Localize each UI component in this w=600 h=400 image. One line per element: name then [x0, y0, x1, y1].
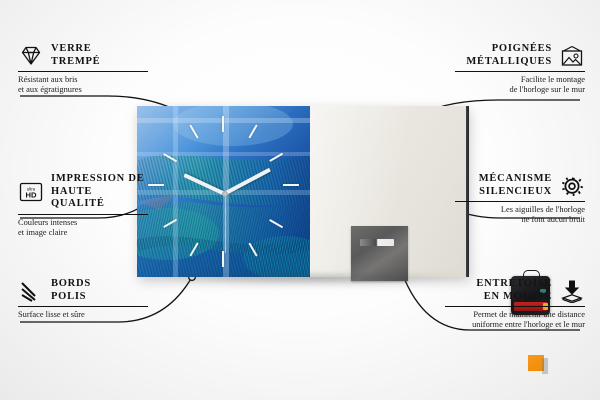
divider	[18, 214, 148, 215]
foam-spacer	[528, 355, 544, 371]
polished-edges-icon	[18, 279, 44, 303]
divider	[455, 201, 585, 202]
infographic-stage: VERRE TREMPÉ Résistant aux bris et aux é…	[0, 0, 600, 400]
ultra-hd-icon: ultra HD	[18, 180, 44, 204]
feature-verre-trempe: VERRE TREMPÉ Résistant aux bris et aux é…	[18, 43, 148, 96]
divider	[455, 71, 585, 72]
clock-face-panel	[137, 106, 310, 277]
product-drop-shadow	[147, 275, 467, 285]
divider	[445, 306, 585, 307]
feature-header: ultra HD IMPRESSION DE HAUTE QUALITÉ	[18, 173, 148, 211]
divider	[18, 306, 148, 307]
feature-header: POIGNÉES MÉTALLIQUES	[455, 43, 585, 68]
feature-description: Résistant aux bris et aux égratignures	[18, 75, 148, 96]
feature-header: BORDS POLIS	[18, 278, 148, 303]
feature-description: Couleurs intenses et image claire	[18, 218, 148, 239]
hanger-slot	[360, 239, 394, 246]
feature-title: ENTRETOISE EN MOUSSE	[476, 278, 552, 303]
second-hand	[225, 193, 226, 253]
feature-header: VERRE TREMPÉ	[18, 43, 148, 68]
diamond-icon	[18, 44, 44, 68]
metal-hanger-plate	[351, 226, 408, 281]
clock-center-hub	[222, 191, 228, 197]
svg-text:HD: HD	[26, 190, 37, 199]
feature-title: VERRE TREMPÉ	[51, 43, 100, 68]
feature-description: Permet de maintenir une distance uniform…	[445, 310, 585, 331]
gear-icon	[559, 174, 585, 198]
feature-bords-polis: BORDS POLIS Surface lisse et sûre	[18, 278, 148, 320]
feature-entretoise-mousse: ENTRETOISE EN MOUSSE Permet de maintenir…	[445, 278, 585, 331]
feature-title: POIGNÉES MÉTALLIQUES	[466, 43, 552, 68]
feature-header: ENTRETOISE EN MOUSSE	[445, 278, 585, 303]
feature-mecanisme-silencieux: MÉCANISME SILENCIEUX Les aiguilles de l'…	[455, 173, 585, 226]
feature-title: IMPRESSION DE HAUTE QUALITÉ	[51, 173, 148, 211]
product-image	[137, 106, 468, 277]
feature-poignees-metalliques: POIGNÉES MÉTALLIQUES Facilite le montage…	[455, 43, 585, 96]
divider	[18, 71, 148, 72]
feature-description: Les aiguilles de l'horloge ne font aucun…	[455, 205, 585, 226]
feature-header: MÉCANISME SILENCIEUX	[455, 173, 585, 198]
feature-description: Surface lisse et sûre	[18, 310, 148, 320]
feature-title: BORDS POLIS	[51, 278, 91, 303]
feature-impression-hd: ultra HD IMPRESSION DE HAUTE QUALITÉ Cou…	[18, 173, 148, 238]
wall-mount-icon	[559, 44, 585, 68]
feature-description: Facilite le montage de l'horloge sur le …	[455, 75, 585, 96]
feature-title: MÉCANISME SILENCIEUX	[479, 173, 552, 198]
foam-spacer-icon	[559, 279, 585, 303]
